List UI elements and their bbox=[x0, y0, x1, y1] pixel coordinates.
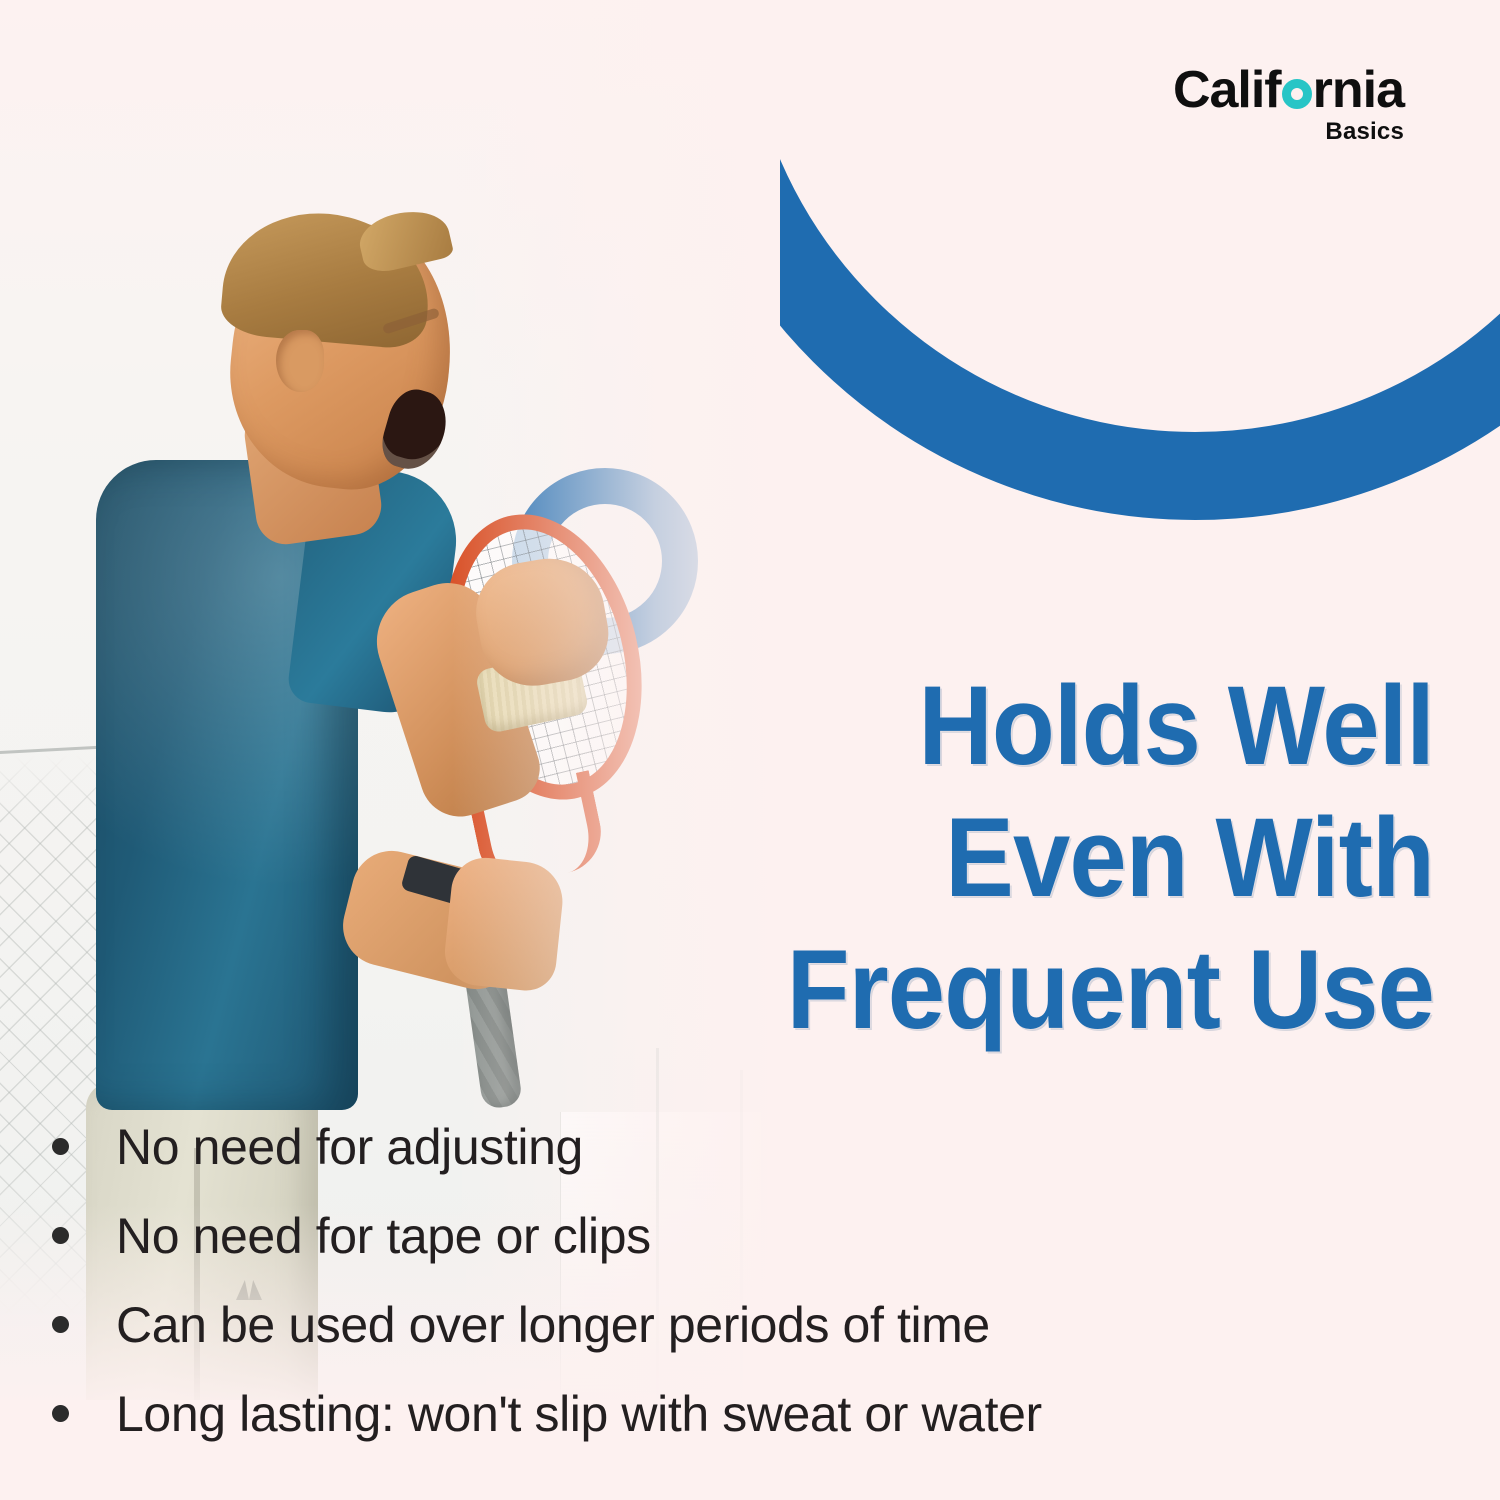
headline-line-2: Even With bbox=[661, 792, 1434, 924]
marketing-infographic: Califrnia Basics Holds Well Even With Fr… bbox=[0, 0, 1500, 1500]
bullet-text: Can be used over longer periods of time bbox=[116, 1296, 990, 1354]
feature-bullet-list: No need for adjusting No need for tape o… bbox=[52, 1118, 1392, 1474]
bullet-dot-icon bbox=[52, 1405, 69, 1422]
list-item: Long lasting: won't slip with sweat or w… bbox=[52, 1385, 1392, 1474]
list-item: No need for tape or clips bbox=[52, 1207, 1392, 1296]
bullet-dot-icon bbox=[52, 1227, 69, 1244]
brand-logo-subtitle: Basics bbox=[1173, 120, 1404, 144]
headline-line-1: Holds Well bbox=[661, 660, 1434, 792]
bullet-text: No need for tape or clips bbox=[116, 1207, 651, 1265]
bullet-dot-icon bbox=[52, 1316, 69, 1333]
brand-logo: Califrnia Basics bbox=[1173, 64, 1404, 144]
bullet-text: No need for adjusting bbox=[116, 1118, 583, 1176]
headline-line-3: Frequent Use bbox=[661, 924, 1434, 1056]
brand-logo-text-after: rnia bbox=[1313, 61, 1404, 119]
list-item: Can be used over longer periods of time bbox=[52, 1296, 1392, 1385]
bullet-text: Long lasting: won't slip with sweat or w… bbox=[116, 1385, 1042, 1443]
brand-logo-o-ring-icon bbox=[1282, 79, 1312, 109]
list-item: No need for adjusting bbox=[52, 1118, 1392, 1207]
brand-logo-wordmark: Califrnia bbox=[1173, 64, 1404, 116]
bullet-dot-icon bbox=[52, 1138, 69, 1155]
brand-logo-text-before: Calif bbox=[1173, 61, 1281, 119]
headline: Holds Well Even With Frequent Use bbox=[594, 660, 1434, 1056]
